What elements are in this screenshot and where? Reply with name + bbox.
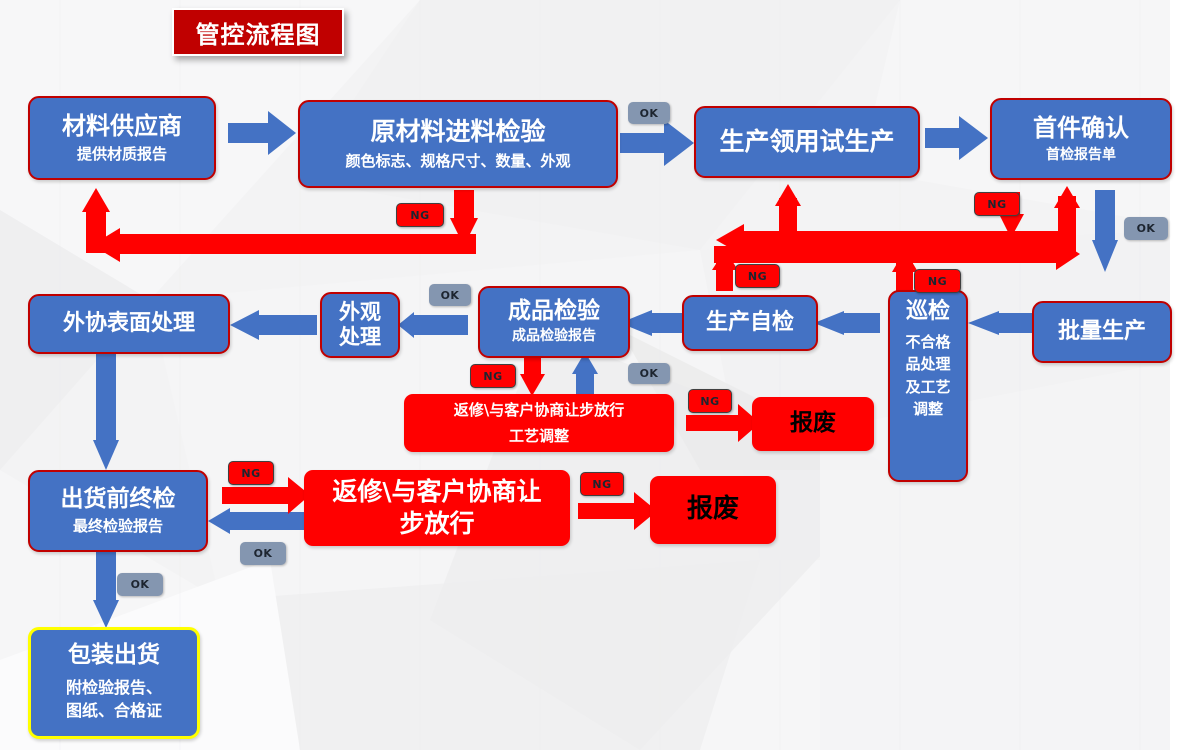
node-incoming-sub: 颜色标志、规格尺寸、数量、外观 <box>345 153 570 170</box>
badge-label: OK <box>441 289 460 302</box>
badge-label: NG <box>928 275 947 288</box>
node-patrol-sub: 不合格 品处理 及工艺 调整 <box>905 331 950 421</box>
node-first-article-sub: 首检报告单 <box>1046 148 1116 164</box>
node-self-check[interactable]: 生产自检 <box>682 295 818 351</box>
badge-ng-selfcheck-up: NG <box>735 264 780 288</box>
badge-label: NG <box>748 270 767 283</box>
node-rework-1[interactable]: 返修\与客户协商让步放行 工艺调整 <box>404 394 674 452</box>
badge-ng-finished-down: NG <box>470 364 516 388</box>
badge-ng-firstarticle-back: NG <box>974 192 1020 216</box>
arrow-supplier-to-incoming <box>228 111 296 155</box>
node-final-check[interactable]: 出货前终检 最终检验报告 <box>28 470 208 552</box>
badge-ng-finalcheck-to-rework2: NG <box>228 461 274 485</box>
arrow-incoming-to-trial <box>620 120 694 166</box>
node-appearance-treatment[interactable]: 外观 处理 <box>320 292 400 358</box>
badge-ng-incoming-back: NG <box>396 203 444 227</box>
node-rework-2[interactable]: 返修\与客户协商让 步放行 <box>304 470 570 546</box>
node-incoming-title: 原材料进料检验 <box>370 118 545 146</box>
page-title-text: 管控流程图 <box>196 15 321 50</box>
node-trial-title: 生产领用试生产 <box>719 128 894 156</box>
badge-label: NG <box>241 467 260 480</box>
arrow-rework1-to-finished <box>572 352 598 396</box>
badge-label: OK <box>1137 222 1156 235</box>
arrow-finished-to-appearance <box>398 312 468 338</box>
arrow-appearance-to-surface <box>230 310 317 340</box>
page-title: 管控流程图 <box>172 8 344 56</box>
badge-ok-firstarticle-to-mass: OK <box>1124 217 1168 240</box>
badge-label: OK <box>640 367 659 380</box>
node-finished-sub: 成品检验报告 <box>512 329 596 345</box>
node-finished-title: 成品检验 <box>508 299 600 325</box>
node-scrap-1[interactable]: 报废 <box>752 397 874 451</box>
badge-ok-finished-to-appearance: OK <box>429 284 471 306</box>
arrow-rework2-to-finalcheck <box>208 508 310 534</box>
node-surface-title: 外协表面处理 <box>63 312 195 337</box>
node-incoming-inspection[interactable]: 原材料进料检验 颜色标志、规格尺寸、数量、外观 <box>298 100 618 188</box>
arrow-ng-back-to-supplier-line <box>92 228 476 262</box>
node-supplier-sub: 提供材质报告 <box>77 146 167 163</box>
node-surface-treatment[interactable]: 外协表面处理 <box>28 294 230 354</box>
node-mass-production-title: 批量生产 <box>1058 320 1146 345</box>
badge-ok-rework2-to-finalcheck: OK <box>240 542 286 565</box>
node-scrap-2-title: 报废 <box>687 495 739 524</box>
node-scrap-1-title: 报废 <box>790 411 836 437</box>
badge-label: NG <box>483 370 502 383</box>
node-appearance-title: 外观 处理 <box>339 300 381 350</box>
arrow-firstarticle-to-massprod <box>1092 190 1118 272</box>
badge-ok-finalcheck-to-packing: OK <box>117 573 163 596</box>
arrow-patrol-to-selfcheck <box>814 311 880 335</box>
node-packing-title: 包装出货 <box>68 643 160 669</box>
badge-label: OK <box>254 547 273 560</box>
arrow-ng-up-to-supplier <box>82 188 110 253</box>
arrow-rework2-to-scrap2 <box>578 492 657 530</box>
badge-label: NG <box>592 478 611 491</box>
node-packing-sub: 附检验报告、 图纸、合格证 <box>66 676 162 722</box>
badge-label: NG <box>987 198 1006 211</box>
node-packing-shipment[interactable]: 包装出货 附检验报告、 图纸、合格证 <box>28 627 200 739</box>
badge-label: OK <box>131 578 150 591</box>
badge-ok-rework1-to-finished: OK <box>628 363 670 384</box>
node-supplier[interactable]: 材料供应商 提供材质报告 <box>28 96 216 180</box>
node-final-check-title: 出货前终检 <box>61 487 176 513</box>
badge-ng-patrol-up: NG <box>914 269 961 293</box>
node-first-article-title: 首件确认 <box>1033 115 1129 142</box>
arrow-surface-to-finalcheck <box>93 354 119 470</box>
node-scrap-2[interactable]: 报废 <box>650 476 776 544</box>
node-rework-1-title: 返修\与客户协商让步放行 工艺调整 <box>454 397 624 450</box>
badge-label: OK <box>640 107 659 120</box>
node-final-check-sub: 最终检验报告 <box>73 518 163 535</box>
node-finished-inspection[interactable]: 成品检验 成品检验报告 <box>478 286 630 358</box>
node-patrol-inspection[interactable]: 巡检 不合格 品处理 及工艺 调整 <box>888 290 968 482</box>
node-trial-production[interactable]: 生产领用试生产 <box>694 106 920 178</box>
badge-ng-rework2-to-scrap: NG <box>580 472 624 496</box>
badge-ok-incoming-to-trial: OK <box>628 102 670 124</box>
arrow-finalcheck-to-packing <box>93 552 119 628</box>
node-rework-2-title: 返修\与客户协商让 步放行 <box>332 476 541 541</box>
node-patrol-title: 巡检 <box>906 300 950 325</box>
arrow-finished-ng-down <box>520 358 545 396</box>
arrow-trial-to-firstarticle <box>925 116 988 160</box>
node-mass-production[interactable]: 批量生产 <box>1032 301 1172 363</box>
arrow-selfcheck-to-finished <box>620 310 688 336</box>
node-first-article[interactable]: 首件确认 首检报告单 <box>990 98 1172 180</box>
badge-label: NG <box>700 395 719 408</box>
node-supplier-title: 材料供应商 <box>62 113 182 140</box>
arrow-massprod-to-patrol <box>968 311 1037 335</box>
badge-ng-rework1-to-scrap: NG <box>688 389 732 413</box>
node-self-check-title: 生产自检 <box>706 311 794 336</box>
badge-label: NG <box>410 209 429 222</box>
